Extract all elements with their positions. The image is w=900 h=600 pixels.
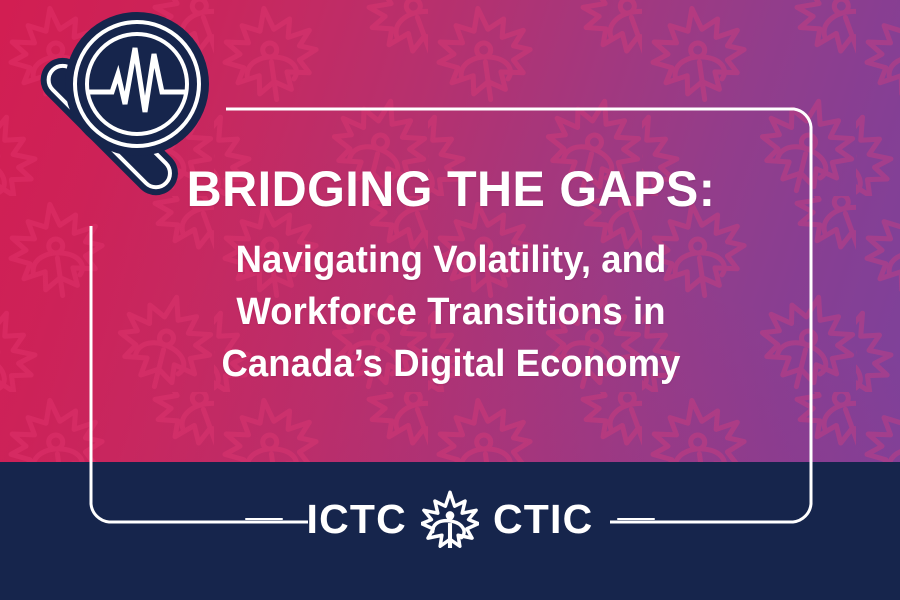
wordmark-ictc: ICTC	[307, 499, 407, 540]
logo-inner: ICTC CTIC	[297, 490, 604, 548]
logo-rule-left	[245, 518, 283, 520]
magnifier-pulse-icon	[14, 8, 239, 213]
logo-rule-right	[617, 518, 655, 520]
report-cover: BRIDGING THE GAPS: Navigating Volatility…	[0, 0, 900, 600]
subtitle-line-3: Canada’s Digital Economy	[104, 338, 797, 390]
wordmark-ctic: CTIC	[493, 499, 593, 540]
page-subtitle: Navigating Volatility, and Workforce Tra…	[104, 234, 797, 390]
maple-leaf-person-emblem	[421, 490, 479, 548]
subtitle-line-1: Navigating Volatility, and	[104, 234, 797, 286]
subtitle-line-2: Workforce Transitions in	[104, 286, 797, 338]
brand-lockup: ICTC CTIC	[0, 487, 900, 551]
